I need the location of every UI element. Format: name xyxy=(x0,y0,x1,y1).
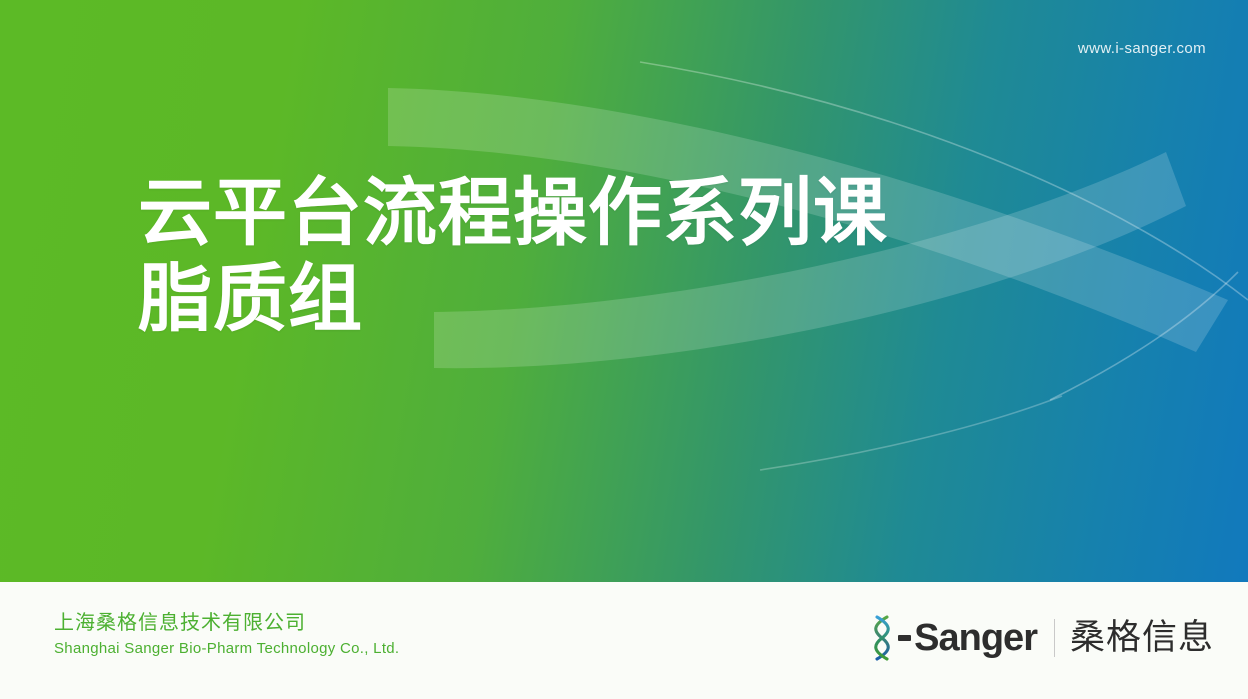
logo-wordmark-cn: 桑格信息 xyxy=(1070,618,1214,658)
sanger-logo[interactable]: Sanger 桑格信息 xyxy=(867,612,1214,664)
company-name-cn: 上海桑格信息技术有限公司 xyxy=(54,610,399,636)
company-info: 上海桑格信息技术有限公司 Shanghai Sanger Bio-Pharm T… xyxy=(54,610,399,660)
site-url[interactable]: www.i-sanger.com xyxy=(1078,40,1206,57)
slide-title: 云平台流程操作系列课 脂质组 xyxy=(138,170,978,342)
hero-banner: www.i-sanger.com 云平台流程操作系列课 脂质组 xyxy=(0,0,1248,582)
footer-bar: 上海桑格信息技术有限公司 Shanghai Sanger Bio-Pharm T… xyxy=(0,582,1248,699)
dna-helix-icon xyxy=(867,614,897,662)
title-line-1: 云平台流程操作系列课 xyxy=(138,170,978,256)
title-line-2: 脂质组 xyxy=(138,256,978,342)
logo-dash-icon xyxy=(898,635,911,641)
hairline-arc-lower-tail xyxy=(760,396,1062,470)
company-name-en: Shanghai Sanger Bio-Pharm Technology Co.… xyxy=(54,638,399,660)
logo-divider xyxy=(1054,619,1055,657)
logo-wordmark: Sanger xyxy=(914,618,1037,658)
slide-root: www.i-sanger.com 云平台流程操作系列课 脂质组 上海桑格信息技术… xyxy=(0,0,1248,699)
